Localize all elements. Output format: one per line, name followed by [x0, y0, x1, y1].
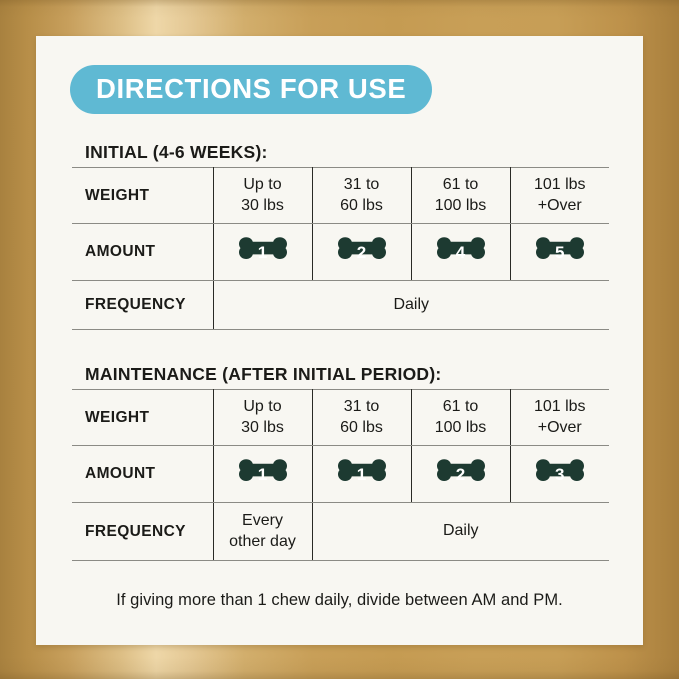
dosing-table-maintenance: WEIGHT Up to30 lbs 31 to60 lbs 61 to100 …	[72, 389, 609, 561]
amount-cell: 2	[411, 446, 510, 503]
table-row: FREQUENCY Daily	[72, 281, 609, 330]
table-row: FREQUENCY Everyother day Daily	[72, 503, 609, 561]
weight-cell: 61 to100 lbs	[411, 390, 510, 446]
bone-icon: 1	[233, 456, 293, 492]
amount-cell: 1	[213, 446, 312, 503]
amount-cell: 5	[510, 224, 609, 281]
weight-cell: Up to30 lbs	[213, 390, 312, 446]
bone-count-label: 2	[332, 234, 392, 270]
bone-count-label: 2	[431, 456, 491, 492]
bone-count-label: 1	[332, 456, 392, 492]
row-label-frequency: FREQUENCY	[72, 503, 213, 561]
amount-cell: 2	[312, 224, 411, 281]
amount-cell: 1	[213, 224, 312, 281]
weight-cell: 31 to60 lbs	[312, 168, 411, 224]
frequency-cell: Daily	[312, 503, 609, 561]
row-label-amount: AMOUNT	[72, 446, 213, 503]
weight-cell: 101 lbs+Over	[510, 390, 609, 446]
bone-icon: 2	[431, 456, 491, 492]
section-heading-initial: INITIAL (4-6 WEEKS):	[85, 142, 268, 163]
weight-cell: 101 lbs+Over	[510, 168, 609, 224]
directions-for-use-badge: DIRECTIONS FOR USE	[70, 65, 432, 114]
bone-icon: 4	[431, 234, 491, 270]
directions-badge-wrapper: DIRECTIONS FOR USE	[70, 65, 432, 114]
bone-count-label: 3	[530, 456, 590, 492]
bone-icon: 3	[530, 456, 590, 492]
directions-card: DIRECTIONS FOR USE INITIAL (4-6 WEEKS): …	[36, 36, 643, 645]
frequency-cell: Daily	[213, 281, 609, 330]
bone-count-label: 1	[233, 456, 293, 492]
row-label-frequency: FREQUENCY	[72, 281, 213, 330]
section-heading-maintenance: MAINTENANCE (AFTER INITIAL PERIOD):	[85, 364, 441, 385]
dosing-footnote: If giving more than 1 chew daily, divide…	[36, 591, 643, 610]
row-label-weight: WEIGHT	[72, 168, 213, 224]
bone-count-label: 4	[431, 234, 491, 270]
row-label-weight: WEIGHT	[72, 390, 213, 446]
table-row: WEIGHT Up to30 lbs 31 to60 lbs 61 to100 …	[72, 168, 609, 224]
table-row: WEIGHT Up to30 lbs 31 to60 lbs 61 to100 …	[72, 390, 609, 446]
weight-cell: 61 to100 lbs	[411, 168, 510, 224]
bone-icon: 5	[530, 234, 590, 270]
frequency-cell: Everyother day	[213, 503, 312, 561]
amount-cell: 3	[510, 446, 609, 503]
table-row: AMOUNT 1 1 2 3	[72, 446, 609, 503]
weight-cell: Up to30 lbs	[213, 168, 312, 224]
amount-cell: 4	[411, 224, 510, 281]
amount-cell: 1	[312, 446, 411, 503]
table-row: AMOUNT 1 2 4 5	[72, 224, 609, 281]
bone-icon: 1	[233, 234, 293, 270]
row-label-amount: AMOUNT	[72, 224, 213, 281]
dosing-table-initial: WEIGHT Up to30 lbs 31 to60 lbs 61 to100 …	[72, 167, 609, 330]
bone-count-label: 1	[233, 234, 293, 270]
bone-icon: 1	[332, 456, 392, 492]
weight-cell: 31 to60 lbs	[312, 390, 411, 446]
bone-icon: 2	[332, 234, 392, 270]
bone-count-label: 5	[530, 234, 590, 270]
